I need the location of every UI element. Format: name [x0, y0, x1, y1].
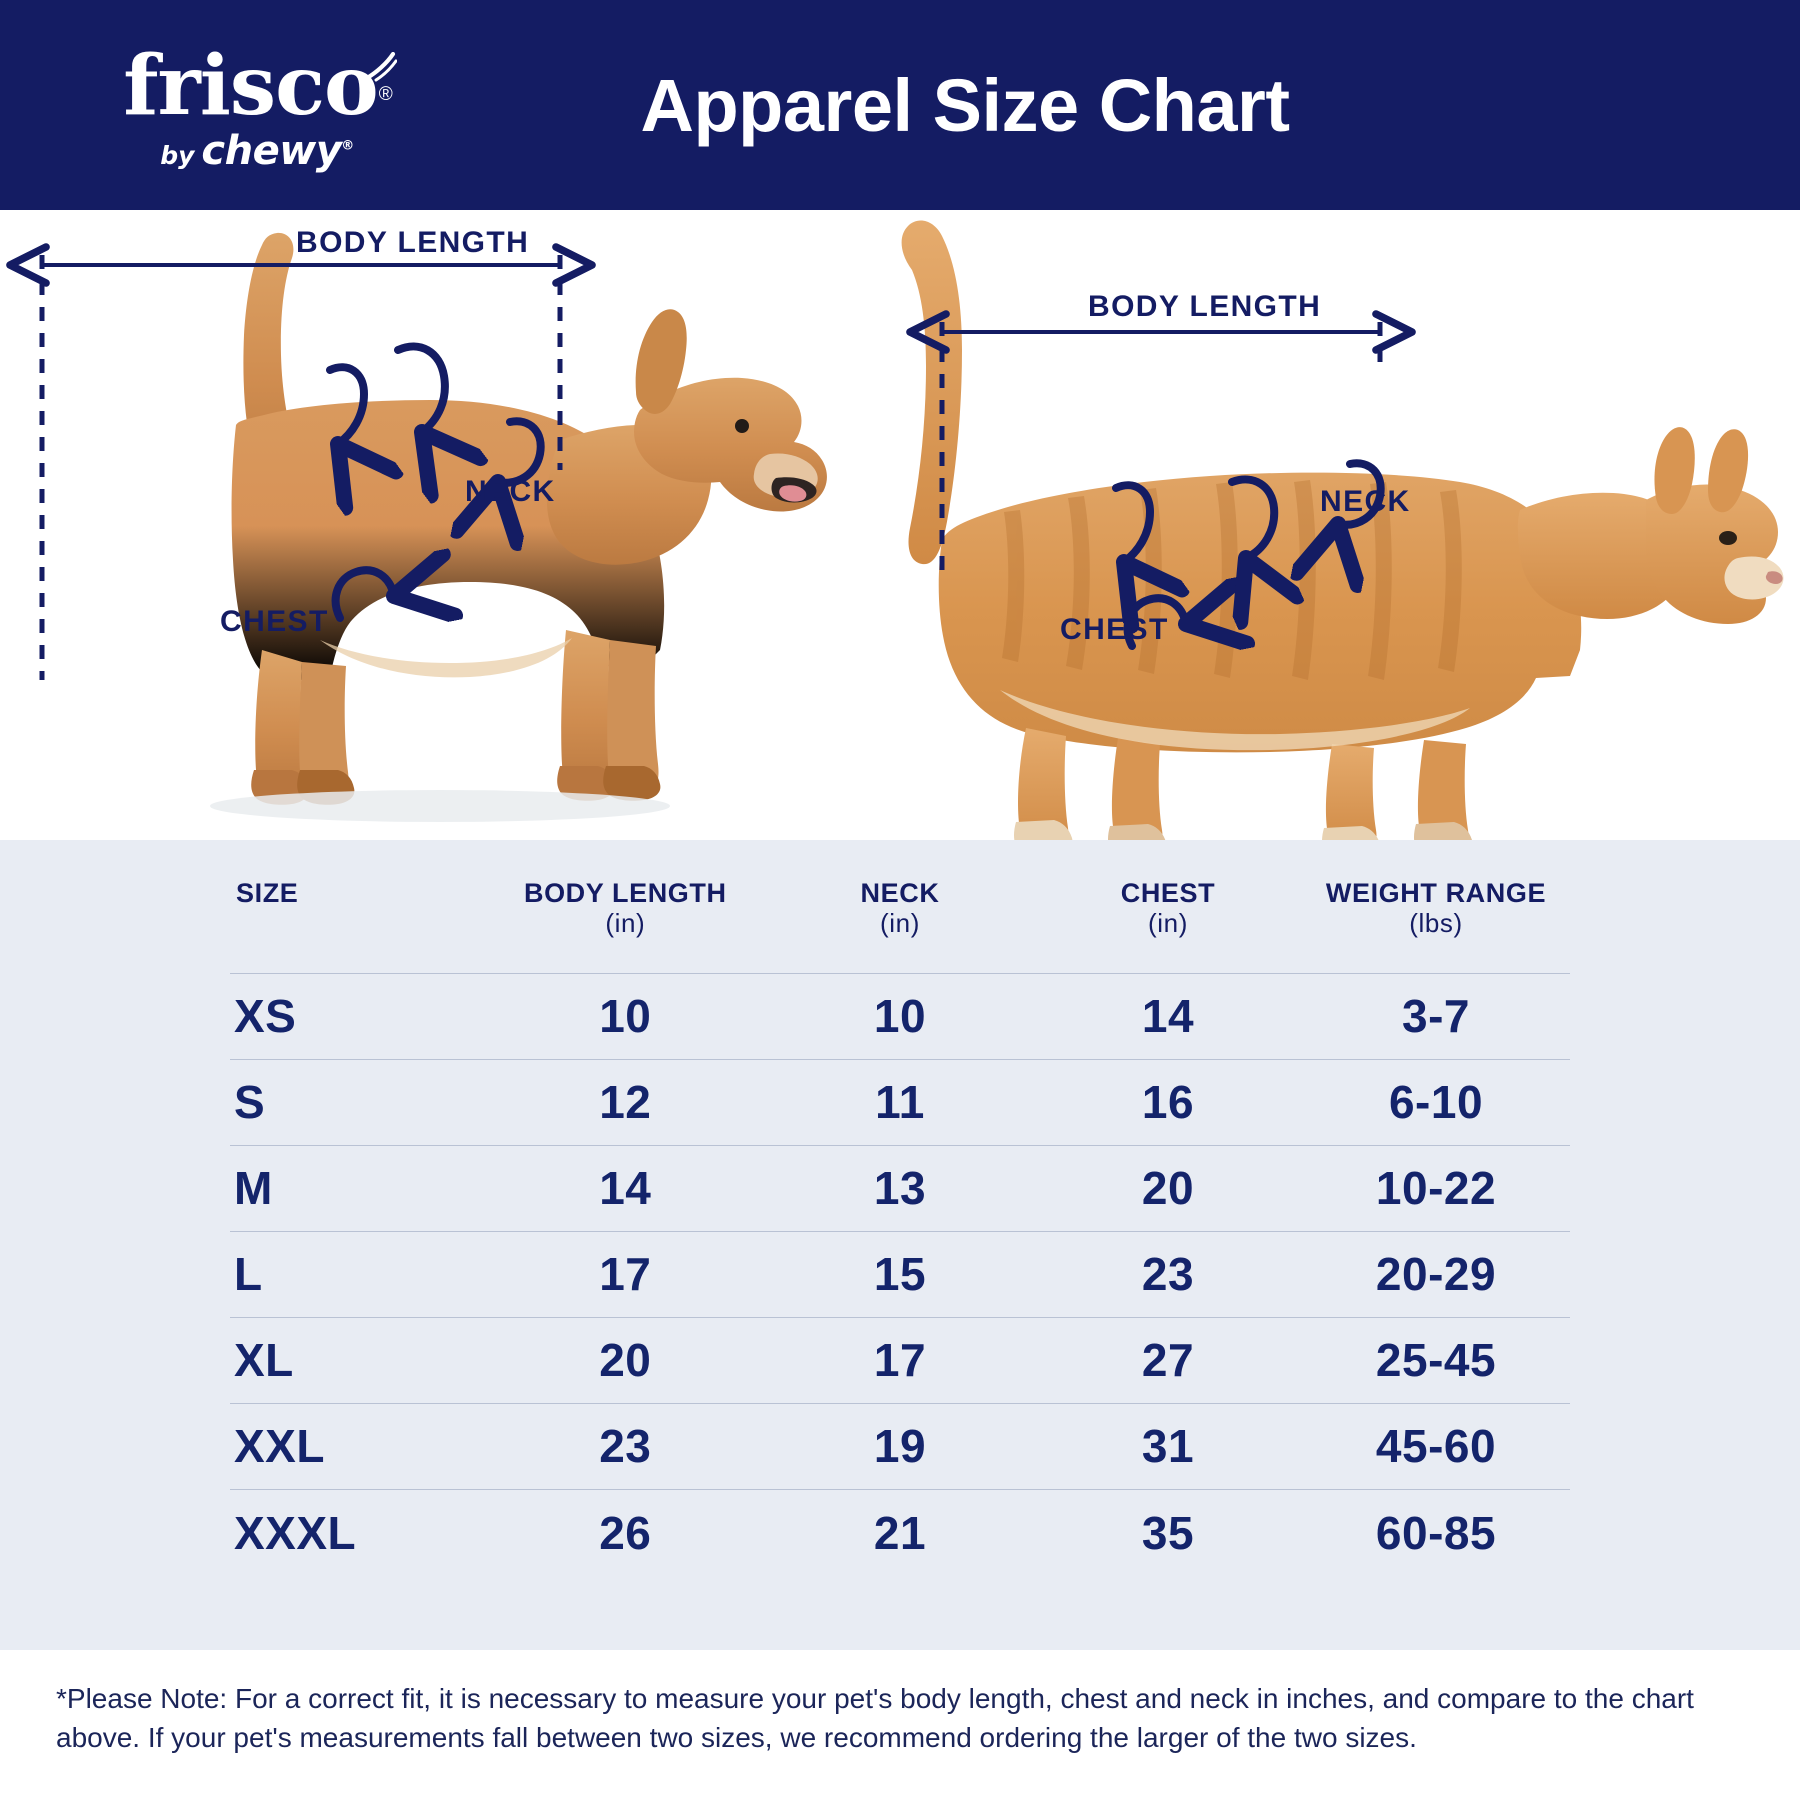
cell-neck: 15 [766, 1231, 1034, 1317]
page-header: frisco® by chewy® Apparel Size Chart [0, 0, 1800, 210]
cell-weight-range: 10-22 [1302, 1145, 1570, 1231]
cell-neck: 11 [766, 1059, 1034, 1145]
cell-size: XL [230, 1317, 485, 1403]
column-header-weight-range: WEIGHT RANGE (lbs) [1302, 878, 1570, 973]
dog-neck-label: NECK [465, 475, 556, 509]
cat-illustration: BODY LENGTH NECK CHEST [880, 210, 1800, 840]
cell-body-length: 17 [485, 1231, 766, 1317]
cell-body-length: 14 [485, 1145, 766, 1231]
cell-body-length: 20 [485, 1317, 766, 1403]
cat-chest-label: CHEST [1060, 613, 1169, 647]
cat-body-length-label: BODY LENGTH [1088, 290, 1321, 324]
page-title: Apparel Size Chart [0, 63, 1800, 148]
size-table: SIZE BODY LENGTH (in) NECK (in) CHEST (i… [230, 878, 1570, 1575]
column-header-body-length: BODY LENGTH (in) [485, 878, 766, 973]
cell-body-length: 26 [485, 1489, 766, 1575]
cell-body-length: 10 [485, 973, 766, 1059]
cell-chest: 35 [1034, 1489, 1302, 1575]
cell-size: XS [230, 973, 485, 1059]
cat-neck-label: NECK [1320, 485, 1411, 519]
illustration-band: BODY LENGTH NECK CHEST [0, 210, 1800, 840]
cat-measurement-arrows [880, 210, 1800, 840]
table-body: XS 10 10 14 3-7 S 12 11 16 6-10 M 14 13 [230, 973, 1570, 1575]
dog-illustration: BODY LENGTH NECK CHEST [0, 210, 880, 840]
cell-body-length: 12 [485, 1059, 766, 1145]
cell-weight-range: 45-60 [1302, 1403, 1570, 1489]
table-row: L 17 15 23 20-29 [230, 1231, 1570, 1317]
cell-chest: 23 [1034, 1231, 1302, 1317]
dog-measurement-arrows [0, 210, 880, 840]
size-chart-page: frisco® by chewy® Apparel Size Chart [0, 0, 1800, 1800]
size-table-section: SIZE BODY LENGTH (in) NECK (in) CHEST (i… [0, 840, 1800, 1650]
table-row: XXL 23 19 31 45-60 [230, 1403, 1570, 1489]
table-row: M 14 13 20 10-22 [230, 1145, 1570, 1231]
cell-body-length: 23 [485, 1403, 766, 1489]
dog-body-length-label: BODY LENGTH [296, 226, 529, 260]
footnote: *Please Note: For a correct fit, it is n… [0, 1650, 1800, 1800]
dog-photo [0, 210, 880, 840]
cell-neck: 10 [766, 973, 1034, 1059]
table-row: XL 20 17 27 25-45 [230, 1317, 1570, 1403]
cell-chest: 27 [1034, 1317, 1302, 1403]
cell-neck: 17 [766, 1317, 1034, 1403]
cell-chest: 20 [1034, 1145, 1302, 1231]
dog-chest-label: CHEST [220, 605, 329, 639]
cell-weight-range: 6-10 [1302, 1059, 1570, 1145]
cell-neck: 21 [766, 1489, 1034, 1575]
cell-weight-range: 60-85 [1302, 1489, 1570, 1575]
cell-weight-range: 3-7 [1302, 973, 1570, 1059]
cell-chest: 31 [1034, 1403, 1302, 1489]
cell-chest: 14 [1034, 973, 1302, 1059]
table-header-row: SIZE BODY LENGTH (in) NECK (in) CHEST (i… [230, 878, 1570, 973]
cell-size: M [230, 1145, 485, 1231]
cell-size: XXXL [230, 1489, 485, 1575]
cell-size: XXL [230, 1403, 485, 1489]
cat-photo [880, 210, 1800, 840]
column-header-neck: NECK (in) [766, 878, 1034, 973]
table-head: SIZE BODY LENGTH (in) NECK (in) CHEST (i… [230, 878, 1570, 973]
cell-size: S [230, 1059, 485, 1145]
cell-size: L [230, 1231, 485, 1317]
table-row: S 12 11 16 6-10 [230, 1059, 1570, 1145]
cell-weight-range: 20-29 [1302, 1231, 1570, 1317]
column-header-size: SIZE [230, 878, 485, 973]
column-header-chest: CHEST (in) [1034, 878, 1302, 973]
cell-chest: 16 [1034, 1059, 1302, 1145]
cell-neck: 19 [766, 1403, 1034, 1489]
cell-neck: 13 [766, 1145, 1034, 1231]
table-row: XXXL 26 21 35 60-85 [230, 1489, 1570, 1575]
table-row: XS 10 10 14 3-7 [230, 973, 1570, 1059]
cell-weight-range: 25-45 [1302, 1317, 1570, 1403]
